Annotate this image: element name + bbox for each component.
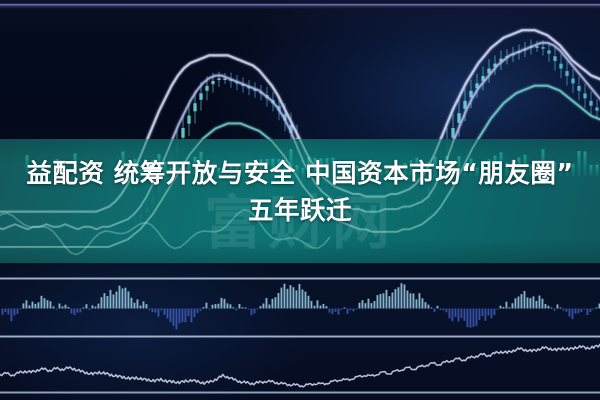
banner-root: 富财网 益配资 统筹开放与安全 中国资本市场“朋友圈” 五年跃迁 — [0, 0, 600, 400]
macd-histogram-series — [2, 283, 600, 329]
trend-line-series — [0, 344, 600, 387]
indicator-panels-graphic — [0, 0, 600, 400]
